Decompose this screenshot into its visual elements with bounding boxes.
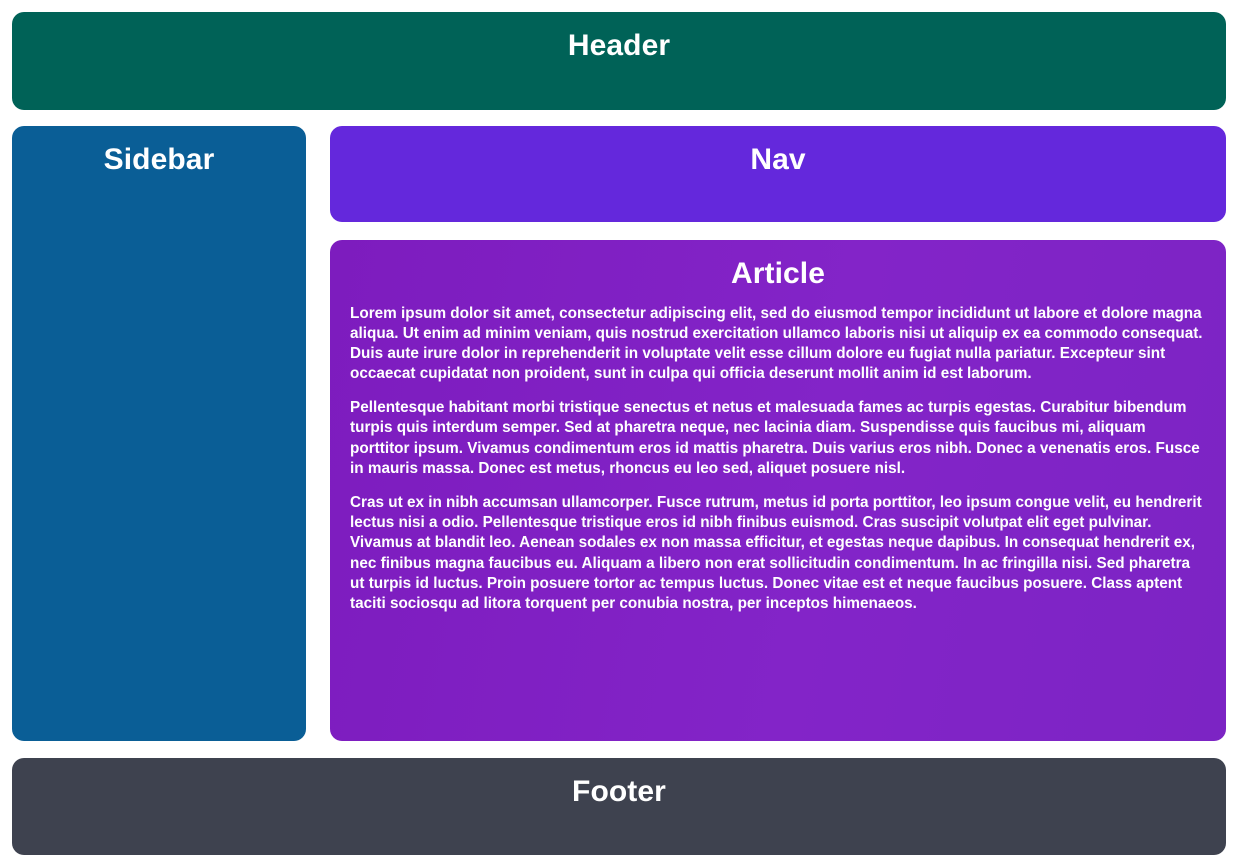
- article-paragraph: Pellentesque habitant morbi tristique se…: [350, 398, 1206, 479]
- sidebar-title: Sidebar: [12, 143, 306, 178]
- nav-title: Nav: [330, 143, 1226, 178]
- article-paragraph: Cras ut ex in nibh accumsan ullamcorper.…: [350, 493, 1206, 614]
- header-title: Header: [12, 29, 1226, 64]
- article-region: Article Lorem ipsum dolor sit amet, cons…: [330, 240, 1226, 741]
- header-region: Header: [12, 12, 1226, 110]
- nav-region[interactable]: Nav: [330, 126, 1226, 222]
- page-root: Header Sidebar Nav Article Lorem ipsum d…: [0, 0, 1238, 867]
- article-paragraph: Lorem ipsum dolor sit amet, consectetur …: [350, 304, 1206, 385]
- footer-region: Footer: [12, 758, 1226, 855]
- article-body: Lorem ipsum dolor sit amet, consectetur …: [340, 292, 1216, 615]
- footer-title: Footer: [12, 775, 1226, 810]
- sidebar-region: Sidebar: [12, 126, 306, 741]
- article-title: Article: [340, 257, 1216, 292]
